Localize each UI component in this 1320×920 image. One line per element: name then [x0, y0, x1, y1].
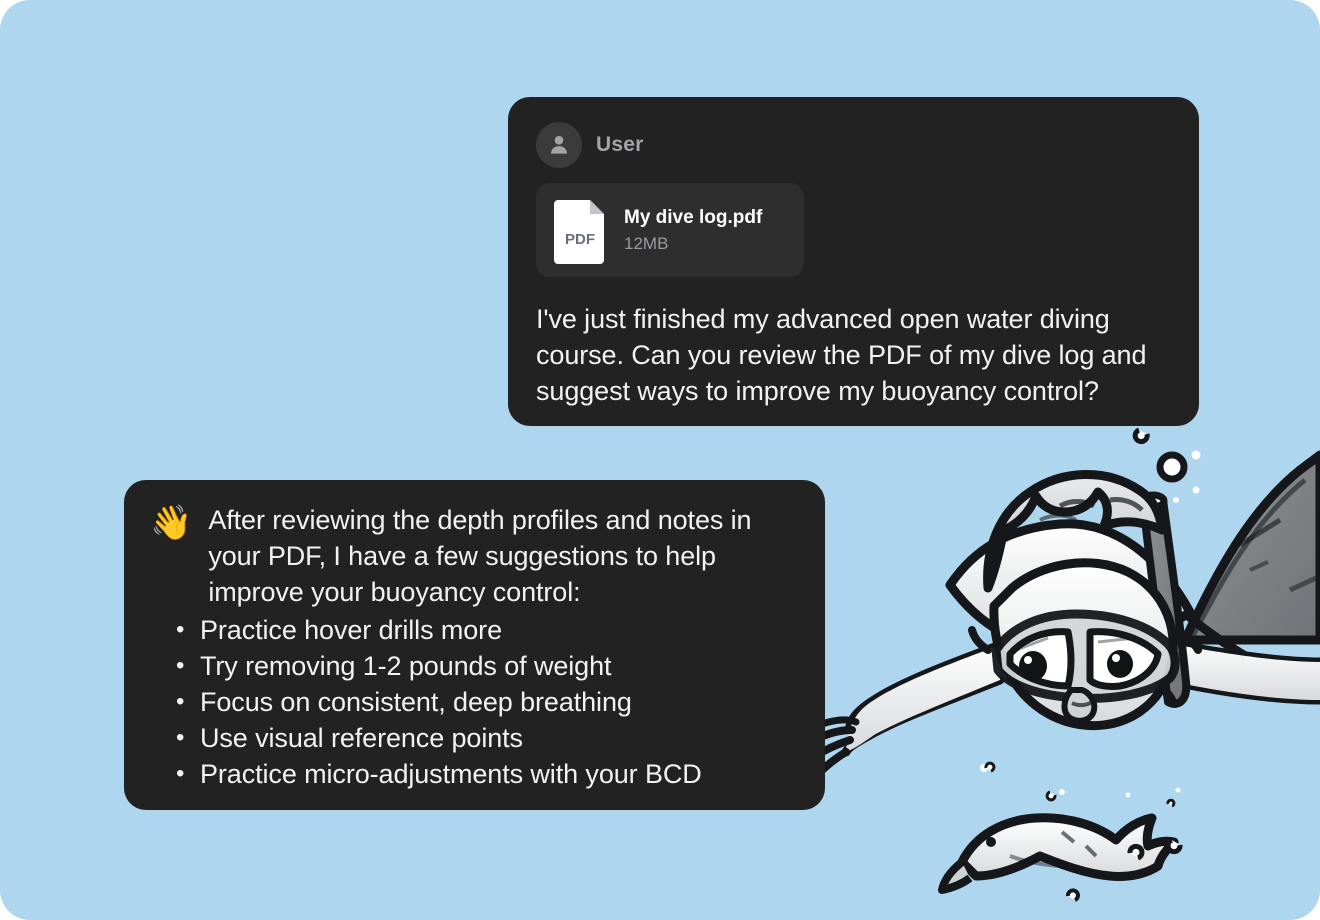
air-bubbles	[980, 398, 1201, 900]
user-message-bubble: User PDF My dive log.pdf 12MB I've just …	[508, 97, 1199, 426]
waving-hand-icon: 👋	[150, 504, 192, 542]
pdf-icon-label: PDF	[565, 231, 595, 248]
assistant-intro-text: After reviewing the depth profiles and n…	[208, 502, 799, 610]
suggestion-list: Practice hover drills more Try removing …	[150, 612, 799, 792]
attachment-filesize: 12MB	[624, 234, 762, 254]
fish-illustration	[942, 818, 1174, 890]
assistant-intro-row: 👋 After reviewing the depth profiles and…	[150, 502, 799, 610]
user-message-text: I've just finished my advanced open wate…	[536, 301, 1171, 409]
diver-group	[812, 455, 1320, 774]
list-item: Focus on consistent, deep breathing	[198, 684, 799, 720]
attachment-meta: My dive log.pdf 12MB	[624, 207, 762, 254]
assistant-message-bubble: 👋 After reviewing the depth profiles and…	[124, 480, 825, 810]
chat-canvas: User PDF My dive log.pdf 12MB I've just …	[0, 0, 1320, 920]
list-item: Try removing 1-2 pounds of weight	[198, 648, 799, 684]
list-item: Use visual reference points	[198, 720, 799, 756]
attachment-filename: My dive log.pdf	[624, 207, 762, 229]
user-name: User	[596, 133, 644, 157]
person-icon	[546, 132, 572, 158]
list-item: Practice micro-adjustments with your BCD	[198, 756, 799, 792]
attachment-card[interactable]: PDF My dive log.pdf 12MB	[536, 183, 804, 277]
user-header: User	[536, 121, 1171, 169]
pdf-file-icon: PDF	[554, 196, 608, 264]
list-item: Practice hover drills more	[198, 612, 799, 648]
avatar	[536, 122, 582, 168]
